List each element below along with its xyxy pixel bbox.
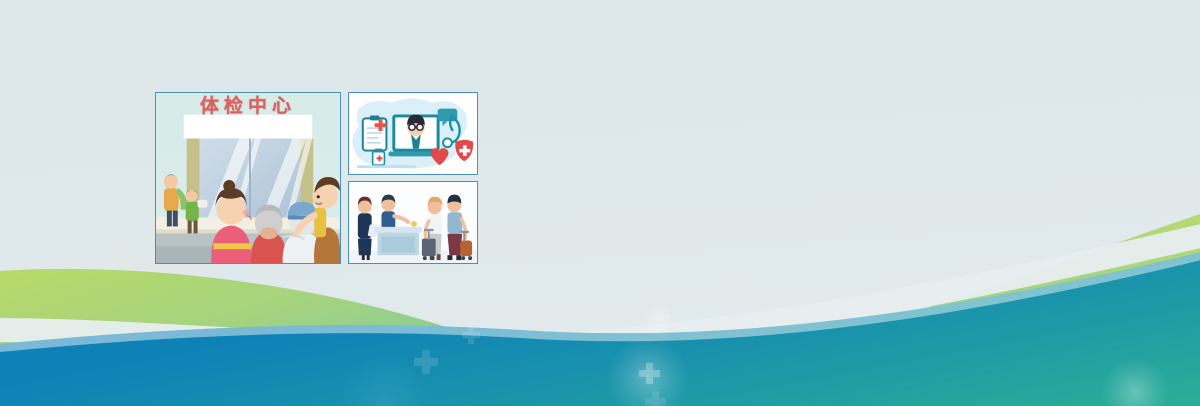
door-divider (249, 138, 251, 223)
glow-orb-top (640, 302, 676, 338)
health-banner: 体检中心 (0, 0, 1200, 406)
counter-bell-icon (411, 221, 417, 227)
tele-floor-line (357, 165, 416, 168)
entrance-signboard (184, 115, 313, 139)
medicine-bottle-icon (373, 149, 385, 166)
clipboard-icon (363, 115, 387, 150)
image-collage: 体检中心 (155, 92, 513, 264)
panel-telemedicine-consultation[interactable] (348, 92, 478, 175)
panel-exam-center-entrance[interactable]: 体检中心 (155, 92, 341, 264)
stethoscope-chestpiece (443, 138, 452, 147)
collage-right-column (348, 92, 478, 264)
panel-reception-desk-service[interactable] (348, 181, 478, 264)
